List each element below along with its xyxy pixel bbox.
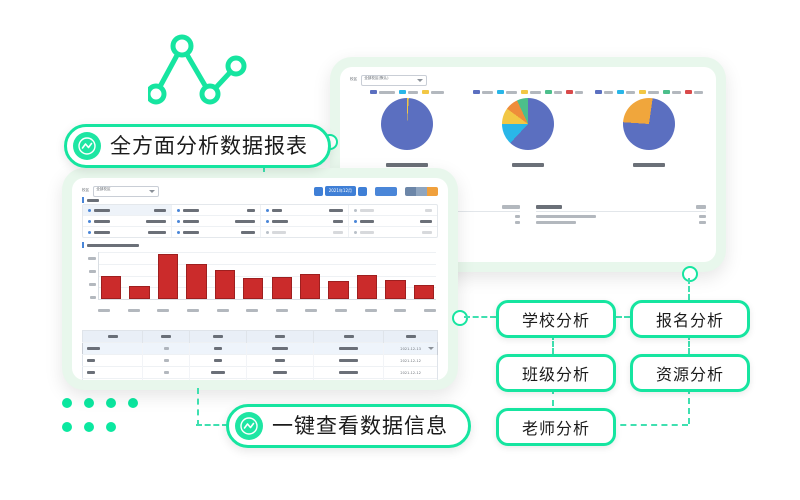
chart-bar[interactable]: [158, 254, 178, 299]
table-cell: [83, 367, 143, 379]
chart-bar[interactable]: [243, 278, 263, 299]
stat-cell[interactable]: [172, 216, 261, 226]
table-cell: [143, 343, 190, 355]
table-row[interactable]: 2021-12-12: [83, 355, 438, 367]
chart-bar[interactable]: [186, 264, 206, 299]
pie-legend-2: [595, 89, 703, 95]
pie-chart-grade[interactable]: [623, 98, 675, 150]
chart-bar[interactable]: [328, 281, 348, 299]
chart-bar[interactable]: [414, 285, 434, 299]
table-header-cell[interactable]: [246, 331, 313, 343]
table-row[interactable]: 2021-12-12: [83, 379, 438, 381]
table-header-row: [83, 331, 438, 343]
stat-cell[interactable]: [261, 227, 350, 237]
chart-bar[interactable]: [300, 274, 320, 299]
stat-cell[interactable]: [349, 227, 437, 237]
table-body: 2021-12-132021-12-122021-12-122021-12-12: [83, 343, 438, 381]
stat-cell[interactable]: [172, 227, 261, 237]
button-resource-analysis[interactable]: 资源分析: [630, 354, 750, 392]
connector-node-card-top-right: [682, 266, 698, 282]
pie-legend-1: [473, 89, 583, 95]
date-value: 2021年12月: [329, 188, 352, 194]
table-cell: [313, 355, 383, 367]
overview-section-title: [82, 197, 99, 203]
campus-filter-value: 全部校区(默认): [364, 77, 388, 81]
table-cell: [313, 379, 383, 381]
callout-top-label: 全方面分析数据报表: [110, 136, 308, 157]
chart-line-badge-icon: [235, 412, 263, 440]
table-cell: 2021-12-12: [384, 355, 438, 367]
data-overview-screen: 校区 全部校区 2021年12月: [72, 178, 448, 380]
callout-bottom-label: 一键查看数据信息: [272, 416, 448, 437]
chart-x-tick: [217, 309, 229, 312]
connector-node-card-right: [452, 310, 468, 326]
toolbar-campus-select[interactable]: 全部校区: [93, 186, 159, 197]
connector-vertical-bottom: [197, 388, 199, 426]
table-header-cell[interactable]: [313, 331, 383, 343]
chart-x-tick: [276, 309, 288, 312]
chart-x-tick: [365, 309, 377, 312]
data-overview-card[interactable]: 校区 全部校区 2021年12月: [62, 168, 458, 390]
table-cell: [83, 355, 143, 367]
table-header-cell[interactable]: [143, 331, 190, 343]
more-button[interactable]: [427, 187, 438, 196]
table-cell: 2021-12-13: [384, 343, 438, 355]
table-header-cell[interactable]: [190, 331, 247, 343]
chart-x-tick: [187, 309, 199, 312]
connector-to-school: [464, 316, 496, 318]
date-next-icon[interactable]: [358, 187, 367, 196]
chart-x-tick: [128, 309, 140, 312]
button-label: 学校分析: [522, 307, 590, 331]
stat-cell[interactable]: [172, 205, 261, 215]
overview-toolbar[interactable]: 校区 全部校区 2021年12月: [82, 184, 438, 198]
campus-filter-bar[interactable]: 校区 全部校区(默认): [350, 74, 706, 86]
table-row[interactable]: 2021-12-13: [83, 343, 438, 355]
table-header-cell[interactable]: [384, 331, 438, 343]
line-chart-nodes-icon: [148, 28, 254, 106]
export-button[interactable]: [405, 187, 416, 196]
table-row[interactable]: 2021-12-12: [83, 367, 438, 379]
button-school-analysis[interactable]: 学校分析: [496, 300, 616, 338]
stat-cell[interactable]: [349, 216, 437, 226]
table-cell: [143, 379, 190, 381]
table-cell: [143, 355, 190, 367]
date-range-picker[interactable]: 2021年12月: [314, 186, 367, 196]
table-cell: [246, 379, 313, 381]
pie-legend-0: [370, 89, 444, 95]
button-label: 资源分析: [656, 361, 724, 385]
table-cell: [83, 379, 143, 381]
toolbar-campus-label: 校区: [82, 189, 89, 193]
button-label: 报名分析: [656, 307, 724, 331]
table-cell: 2021-12-12: [384, 367, 438, 379]
toolbar-campus-value: 全部校区: [96, 188, 110, 192]
overview-stats-grid: [82, 204, 438, 238]
callout-bottom[interactable]: 一键查看数据信息: [226, 404, 471, 448]
table-cell: [190, 355, 247, 367]
pie-block-1: [467, 89, 588, 199]
stat-cell[interactable]: [83, 227, 172, 237]
list-item[interactable]: [536, 221, 706, 224]
connector-resource-down: [688, 388, 690, 424]
chart-bar[interactable]: [272, 277, 292, 299]
table-cell: [190, 367, 247, 379]
connector-bottom-pill: [196, 424, 228, 426]
chart-bar[interactable]: [101, 276, 121, 299]
chart-x-tick: [335, 309, 347, 312]
top-list-1-header: [536, 205, 706, 212]
button-label: 班级分析: [522, 361, 590, 385]
button-class-analysis[interactable]: 班级分析: [496, 354, 616, 392]
chart-x-tick: [98, 309, 110, 312]
stat-cell[interactable]: [261, 216, 350, 226]
pie-title-1: [512, 154, 544, 173]
pie-chart-subject[interactable]: [502, 98, 554, 150]
pie-block-2: [589, 89, 710, 199]
chart-bar[interactable]: [129, 286, 149, 299]
table-cell: [246, 355, 313, 367]
signups-table[interactable]: 2021-12-132021-12-122021-12-122021-12-12: [82, 330, 438, 380]
top-list-1: [536, 205, 706, 224]
stats-row: [83, 227, 437, 237]
list-item[interactable]: [536, 215, 706, 218]
chart-x-axis: [98, 309, 436, 312]
callout-top[interactable]: 全方面分析数据报表: [64, 124, 331, 168]
table-cell: 2021-12-12: [384, 379, 438, 381]
date-prev-icon[interactable]: [314, 187, 323, 196]
table-cell: [83, 343, 143, 355]
button-teacher-analysis[interactable]: 老师分析: [496, 408, 616, 446]
stat-cell[interactable]: [83, 216, 172, 226]
table-cell: [246, 367, 313, 379]
table-cell: [313, 343, 383, 355]
stat-cell[interactable]: [349, 205, 437, 215]
print-button[interactable]: [416, 187, 427, 196]
button-label: 老师分析: [522, 415, 590, 439]
table-cell: [190, 343, 247, 355]
connector-vertical-signup: [688, 278, 690, 300]
chart-bar[interactable]: [215, 270, 235, 299]
chart-x-tick: [394, 309, 406, 312]
chart-bar[interactable]: [385, 280, 405, 299]
table-header-cell[interactable]: [83, 331, 143, 343]
campus-filter-label: 校区: [350, 78, 357, 82]
table-cell: [313, 367, 383, 379]
stats-row: [83, 216, 437, 227]
chart-bars: [101, 252, 434, 299]
search-button[interactable]: [375, 187, 397, 196]
signups-table-element: 2021-12-132021-12-122021-12-122021-12-12: [82, 330, 438, 380]
table-cell: [190, 379, 247, 381]
table-cell: [246, 343, 313, 355]
stat-cell[interactable]: [261, 205, 350, 215]
chart-plot-area: [98, 252, 436, 300]
pie-chart-course-type[interactable]: [381, 98, 433, 150]
poster-stage: 校区 全部校区(默认): [0, 0, 800, 500]
chart-line-badge-icon: [73, 132, 101, 160]
connector-teacher-right: [610, 424, 688, 426]
chart-x-tick: [157, 309, 169, 312]
dot-grid-decoration: [62, 398, 134, 446]
button-signup-analysis[interactable]: 报名分析: [630, 300, 750, 338]
stat-cell[interactable]: [83, 205, 172, 215]
chart-x-tick: [305, 309, 317, 312]
chart-bar[interactable]: [357, 275, 377, 299]
chart-x-tick: [424, 309, 436, 312]
monthly-signups-bar-chart[interactable]: [82, 250, 438, 312]
campus-filter-select[interactable]: 全部校区(默认): [361, 75, 427, 86]
stats-row: [83, 205, 437, 216]
date-value-box[interactable]: 2021年12月: [325, 186, 356, 196]
chart-x-tick: [246, 309, 258, 312]
table-cell: [143, 367, 190, 379]
pie-title-2: [633, 154, 665, 173]
